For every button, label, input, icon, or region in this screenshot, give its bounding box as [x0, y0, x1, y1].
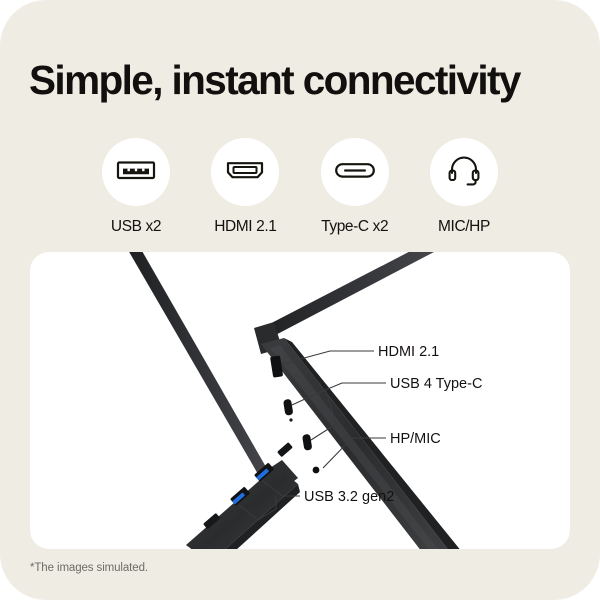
usb-type-c-port-icon: [334, 158, 376, 187]
icon-badge: [430, 138, 498, 206]
icon-badge: [102, 138, 170, 206]
product-photo-card: HDMI 2.1 USB 4 Type-C HP/MIC USB 3.2 gen…: [30, 252, 570, 549]
port-item-mic-hp: MIC/HP: [428, 138, 500, 236]
callout-label-hp-mic: HP/MIC: [390, 431, 441, 447]
hdmi-port-icon: [225, 157, 265, 188]
page-title: Simple, instant connectivity: [29, 58, 589, 103]
icon-badge: [321, 138, 389, 206]
callout-label-usb-32-gen2: USB 3.2 gen2: [304, 489, 394, 505]
headset-mic-icon: [447, 154, 481, 191]
laptop-left-vent-slot: [277, 442, 293, 457]
icon-badge: [211, 138, 279, 206]
promo-panel: Simple, instant connectivity USB x2: [0, 0, 600, 600]
laptop-right-lid: [258, 252, 434, 340]
port-item-hdmi: HDMI 2.1: [209, 138, 281, 236]
usb-c-port-2: [302, 434, 312, 451]
laptop-ports-illustration: HDMI 2.1 USB 4 Type-C HP/MIC USB 3.2 gen…: [30, 252, 570, 549]
port-label: Type-C x2: [321, 218, 388, 236]
headphone-jack: [313, 467, 320, 474]
port-icon-row: USB x2 HDMI 2.1: [100, 138, 500, 236]
port-label: MIC/HP: [438, 218, 490, 236]
footnote: *The images simulated.: [30, 562, 148, 574]
callout-label-hdmi: HDMI 2.1: [378, 344, 439, 360]
port-item-type-c: Type-C x2: [319, 138, 391, 236]
port-label: HDMI 2.1: [214, 218, 276, 236]
port-label: USB x2: [111, 218, 161, 236]
callout-label-usb4-type-c: USB 4 Type-C: [390, 376, 482, 392]
laptop-left-lid: [128, 252, 270, 481]
usb-c-port-1: [283, 399, 293, 416]
laptop-left: [128, 252, 300, 549]
usb-a-port-icon: [116, 157, 156, 188]
pinhole: [289, 418, 292, 421]
port-item-usb: USB x2: [100, 138, 172, 236]
